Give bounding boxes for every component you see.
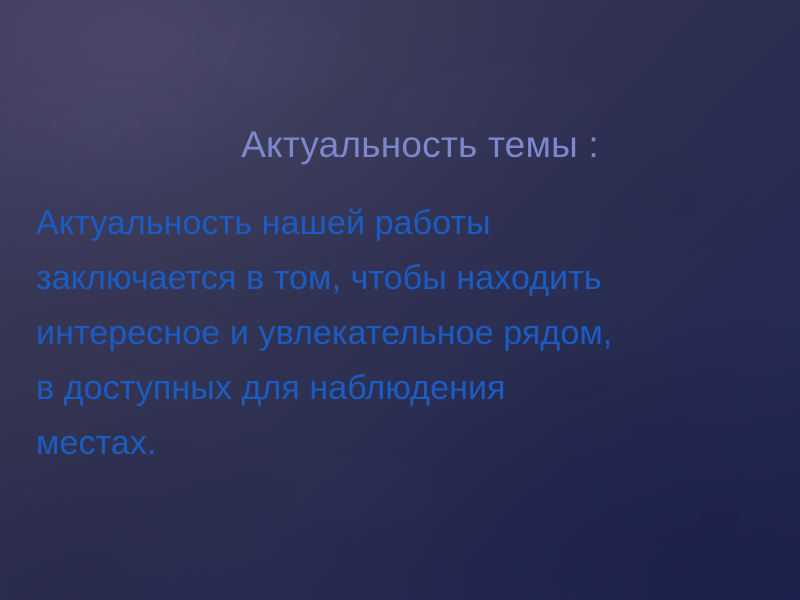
body-line: в доступных для наблюдения: [36, 361, 776, 416]
slide-title: Актуальность темы :: [0, 122, 800, 168]
slide-content: Актуальность темы : Актуальность нашей р…: [0, 0, 800, 600]
body-line: Актуальность нашей работы: [36, 196, 776, 251]
body-line: заключается в том, чтобы находить: [36, 251, 776, 306]
body-line: местах.: [36, 416, 776, 471]
slide-body-text: Актуальность нашей работы заключается в …: [36, 196, 776, 471]
presentation-slide: Актуальность темы : Актуальность нашей р…: [0, 0, 800, 600]
body-line: интересное и увлекательное рядом,: [36, 306, 776, 361]
